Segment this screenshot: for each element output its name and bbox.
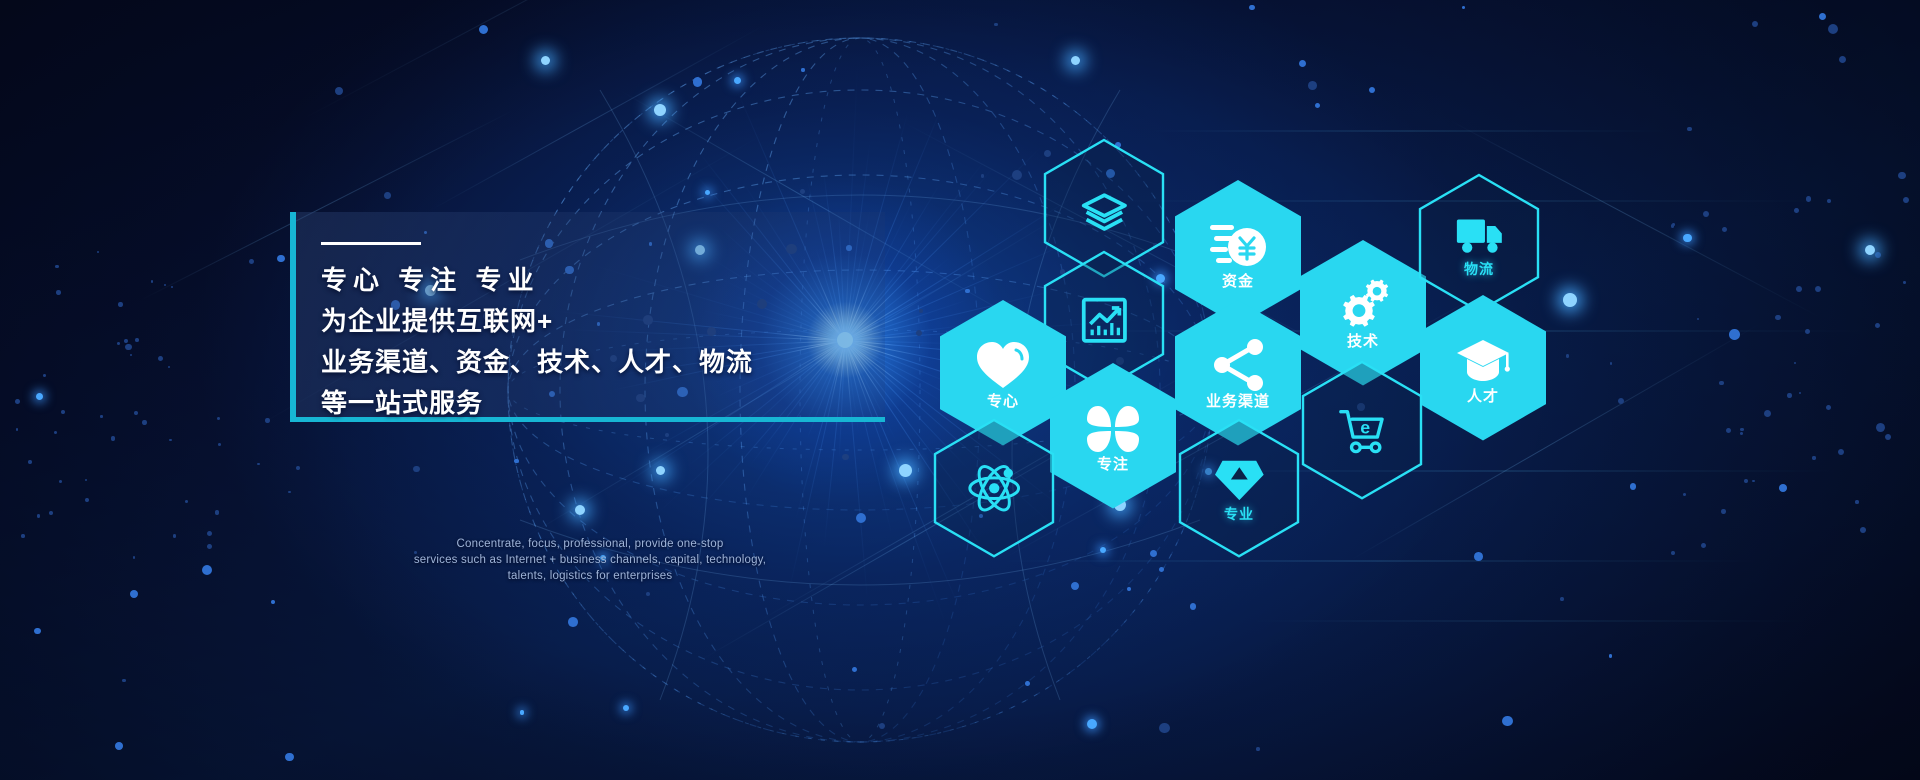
headline-line-4: 等一站式服务 [321, 383, 881, 424]
hexagon-logistics[interactable]: 物流 [1420, 175, 1538, 311]
hexagon-label-talent: 人才 [1420, 385, 1546, 406]
hexagon-talent[interactable]: 人才 [1420, 295, 1546, 441]
truck-icon [1420, 212, 1538, 255]
svg-text:e: e [1360, 417, 1370, 437]
diamond-icon [1180, 457, 1298, 502]
hexagon-label-channels: 业务渠道 [1175, 390, 1301, 411]
hexagon-atom[interactable] [935, 420, 1053, 556]
hexagon-pro[interactable]: 专业 [1180, 420, 1298, 556]
atom-icon [935, 462, 1053, 514]
hexagon-label-logistics: 物流 [1420, 259, 1538, 279]
layers-icon [1045, 184, 1163, 233]
hexagon-cluster: 资金 技术 物流 人才 业务渠道 专心 专注 e [0, 0, 1920, 780]
share-network-icon [1175, 339, 1301, 391]
hexagon-label-funds: 资金 [1175, 270, 1301, 291]
caption-line-1: Concentrate, focus, professional, provid… [330, 536, 850, 552]
hexagon-cart[interactable]: e [1303, 362, 1421, 498]
headline-panel: 专心 专注 专业 为企业提供互联网+ 业务渠道、资金、技术、人才、物流 等一站式… [290, 212, 885, 422]
hexagon-focus[interactable]: 专注 [1050, 363, 1176, 509]
caption-line-2: services such as Internet + business cha… [330, 552, 850, 568]
headline-line-1: 专心 专注 专业 [321, 260, 881, 301]
heart-icon [940, 339, 1066, 391]
yen-coin-icon [1175, 219, 1301, 271]
hexagon-label-heart: 专心 [940, 390, 1066, 411]
clover-icon [1050, 402, 1176, 456]
headline-lines: 专心 专注 专业 为企业提供互联网+ 业务渠道、资金、技术、人才、物流 等一站式… [321, 260, 881, 424]
panel-rule [321, 242, 421, 245]
english-caption: Concentrate, focus, professional, provid… [330, 536, 850, 584]
shopping-cart-e-icon: e [1303, 408, 1421, 453]
hexagon-label-pro: 专业 [1180, 504, 1298, 524]
headline-line-3: 业务渠道、资金、技术、人才、物流 [321, 342, 881, 383]
caption-line-3: talents, logistics for enterprises [330, 568, 850, 584]
hexagon-label-focus: 专注 [1050, 453, 1176, 474]
gears-icon [1300, 279, 1426, 327]
headline-line-2: 为企业提供互联网+ [321, 301, 881, 342]
graduation-cap-icon [1420, 334, 1546, 384]
hexagon-label-tech: 技术 [1300, 330, 1426, 351]
